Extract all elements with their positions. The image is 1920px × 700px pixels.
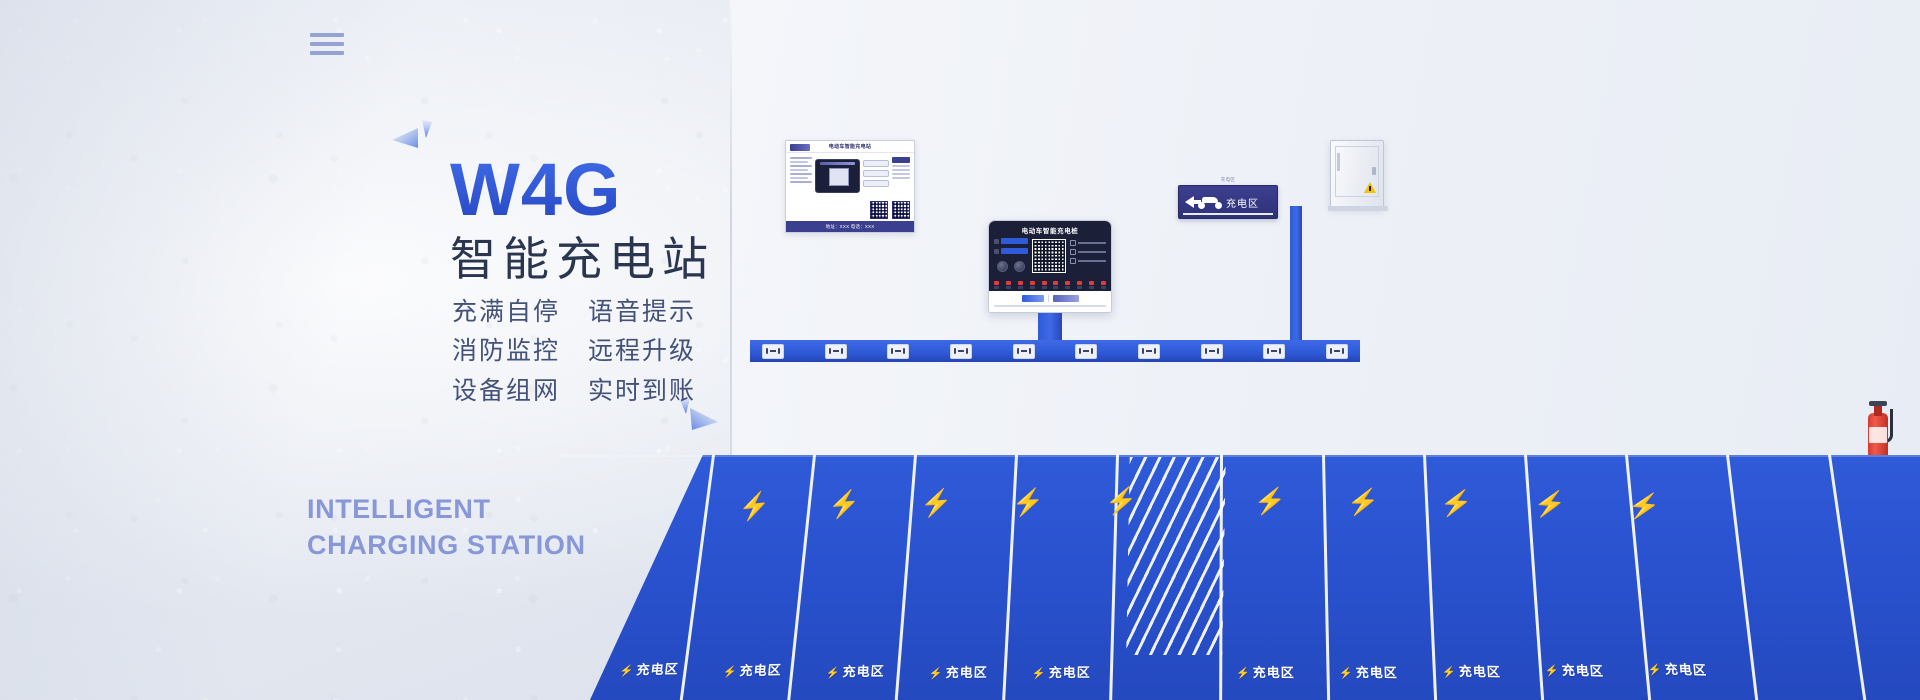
port-socket [1101,286,1106,289]
poster-qr-group [870,201,910,219]
bay-label: ⚡充电区 [1441,660,1501,680]
headline-block: W4G 智能充电站 [450,155,715,289]
plug-icon: ⚡ [919,489,953,517]
port-socket [1018,286,1023,289]
bay-label-text: 充电区 [1664,662,1708,678]
socket-rail [750,340,1360,362]
menu-bar-2 [310,42,344,46]
port-led [1042,281,1047,285]
bay-label-text: 充电区 [1253,665,1295,680]
charging-port[interactable] [1006,281,1011,289]
plug-icon: ⚡ [1533,490,1567,518]
charging-port[interactable] [1018,281,1023,289]
info-icon [1070,249,1076,255]
socket-slot [1334,350,1340,352]
bay-label-text: 充电区 [1561,663,1604,679]
hatched-aisle [1126,457,1225,655]
socket-pin [891,348,893,354]
info-text [1078,251,1106,253]
bolt-icon: ⚡ [825,667,840,679]
bay-line [680,455,715,700]
poster-text-line [790,173,812,175]
charging-pile-info-column [1070,238,1106,273]
power-socket-icon[interactable] [1013,344,1035,359]
power-socket-icon[interactable] [1075,344,1097,359]
scooter-icon [1198,195,1222,209]
charging-port[interactable] [1030,281,1035,289]
charging-pile-footer [989,291,1111,312]
port-socket [994,286,999,289]
poster-notice-line [892,165,910,167]
charging-port[interactable] [1065,281,1070,289]
charging-pile[interactable]: 电动车智能充电桩 [988,220,1112,359]
bay-label: ⚡充电区 [929,662,989,682]
bay-label: ⚡充电区 [722,659,782,679]
direction-sign-underline [1183,213,1273,215]
direction-sign-text: 充电区 [1226,195,1259,210]
port-socket [1089,286,1094,289]
poster-logo [790,144,810,151]
socket-pin [829,348,831,354]
socket-pin [1142,348,1144,354]
plug-icon: ⚡ [1627,491,1662,520]
parking-floor: ⚡ ⚡ ⚡ ⚡ ⚡ ⚡ ⚡ ⚡ ⚡ ⚡ ⚡充电区 ⚡充电区 ⚡充电区 ⚡充电区 … [560,455,1920,700]
scooter-wheel-front [1198,202,1205,209]
electrical-cabinet[interactable] [1330,140,1384,208]
bolt-icon: ⚡ [1442,666,1457,678]
port-led [1065,281,1070,285]
feature-item: 充满自停 [452,296,560,329]
socket-pin [966,348,968,354]
plug-icon: ⚡ [1439,489,1473,517]
partner-logo-icon [1053,295,1079,302]
plug-icon: ⚡ [737,491,772,520]
feature-item: 实时到账 [588,375,696,408]
charging-port[interactable] [1077,281,1082,289]
power-socket-icon[interactable] [950,344,972,359]
charging-port[interactable] [1053,281,1058,289]
charging-port[interactable] [1042,281,1047,289]
extinguisher-neck [1874,405,1882,416]
poster-text-line [790,165,812,167]
socket-pin [1154,348,1156,354]
socket-pin [1205,348,1207,354]
direction-sign[interactable]: 充电区 充电区 [1178,185,1278,219]
cabinet-hinge [1337,153,1340,171]
charging-port[interactable] [1089,281,1094,289]
subtitle-line-1: INTELLIGENT [307,492,586,528]
poster-step [863,160,889,167]
bolt-icon: ⚡ [619,665,635,677]
poster-text-line [790,161,808,163]
bay-line [787,455,816,700]
charging-pile-display-column [994,238,1028,273]
bay-label: ⚡充电区 [1032,662,1091,681]
poster-device-image [815,159,860,193]
charging-port[interactable] [1101,281,1106,289]
scooter-wheel-rear [1215,202,1222,209]
bay-label-text: 充电区 [636,661,680,677]
charging-pile-info-row [1070,258,1106,264]
subtitle-line-2: CHARGING STATION [307,528,586,564]
plug-icon: ⚡ [1105,488,1138,515]
poster-text-line [790,169,808,171]
feature-item: 语音提示 [588,296,696,329]
left-arrow-icon [1185,196,1194,208]
socket-pin [778,348,780,354]
feature-item: 远程升级 [588,335,696,368]
menu-bar-3 [310,51,344,55]
scooter-body [1202,197,1218,203]
socket-pin [1091,348,1093,354]
cabinet-handle[interactable] [1372,167,1376,175]
socket-pin [1217,348,1219,354]
charging-port[interactable] [994,281,999,289]
poster-text-column [790,157,812,219]
port-led [994,281,999,285]
socket-pin [954,348,956,354]
port-led [1053,281,1058,285]
charging-pile-info-row [1070,249,1106,255]
bolt-icon: ⚡ [1545,665,1561,677]
bolt-icon: ⚡ [1339,668,1354,680]
socket-pin [1330,348,1332,354]
brand-logo-icon [1022,295,1044,302]
poster-step [863,180,889,187]
charging-pile-display-row [994,248,1028,254]
charging-pile-subtext [994,305,1106,307]
info-icon [1070,258,1076,264]
socket-slot [1083,350,1089,352]
socket-slot [958,350,964,352]
socket-pin [1267,348,1269,354]
socket-pin [841,348,843,354]
bay-label: ⚡充电区 [1544,659,1604,679]
speaker-icon [997,261,1008,272]
high-voltage-warning-icon [1364,182,1376,193]
charging-pile-knobs[interactable] [994,261,1028,272]
bay-label-text: 充电区 [945,665,988,680]
power-socket-icon[interactable] [1263,344,1285,359]
poster-notice-line [892,177,910,179]
bay-line [1322,455,1330,700]
bay-label-text: 充电区 [1049,665,1091,680]
bolt-icon: ⚡ [722,666,738,678]
poster-notice-line [892,169,910,171]
socket-slot [833,350,839,352]
bay-label-text: 充电区 [1458,664,1501,680]
poster-text-line [790,157,812,159]
charging-pile-info-row [1070,240,1106,246]
power-socket-icon[interactable] [1138,344,1160,359]
charging-pile-body: 电动车智能充电桩 [988,220,1112,313]
plug-icon: ⚡ [1347,488,1380,515]
plug-icon: ⚡ [1012,488,1045,515]
extinguisher-handle [1869,401,1887,406]
power-socket-icon[interactable] [825,344,847,359]
port-socket [1065,286,1070,289]
bay-label: ⚡充电区 [825,661,885,681]
hamburger-menu-icon[interactable] [310,33,344,55]
socket-pin [766,348,768,354]
feature-item: 设备组网 [452,375,560,408]
socket-slot [1271,350,1277,352]
direction-sign-top-label: 充电区 [1221,177,1235,183]
bay-label: ⚡充电区 [1236,662,1295,681]
socket-pin [1017,348,1019,354]
bay-label: ⚡充电区 [619,658,680,679]
menu-bar-1 [310,33,344,37]
display-dot [994,239,999,244]
poster-device-title [820,162,855,165]
bay-label-text: 充电区 [842,664,885,680]
bay-line [1726,455,1758,700]
qr-code-icon [892,201,910,219]
port-socket [1030,286,1035,289]
feature-list: 充满自停 语音提示 消防监控 远程升级 设备组网 实时到账 [452,296,696,408]
bay-label: ⚡充电区 [1339,662,1398,682]
info-icon [1070,240,1076,246]
cabinet-base [1328,206,1388,211]
port-socket [1077,286,1082,289]
socket-slot [1209,350,1215,352]
bay-label-text: 充电区 [1355,665,1398,681]
port-led [1077,281,1082,285]
info-text [1078,260,1106,262]
port-led [1089,281,1094,285]
poster-body [786,153,914,223]
socket-slot [1146,350,1152,352]
poster-footer: 地址：XXX 电话：XXX [786,221,914,232]
display-readout [1001,238,1028,244]
port-led [1030,281,1035,285]
info-text [1078,242,1106,244]
plug-icon: ⚡ [1254,488,1287,515]
power-socket-icon[interactable] [762,344,784,359]
socket-slot [1021,350,1027,352]
wall-poster: 电动车智能充电站 [785,140,915,233]
socket-pin [1279,348,1281,354]
socket-slot [770,350,776,352]
bay-line [895,455,917,700]
charging-pile-controls [994,238,1106,273]
poster-step [863,170,889,177]
socket-pin [1029,348,1031,354]
port-led [1101,281,1106,285]
bolt-icon: ⚡ [1236,668,1251,680]
port-socket [1053,286,1058,289]
power-socket-icon[interactable] [1326,344,1348,359]
power-socket-icon[interactable] [887,344,909,359]
extinguisher-label [1869,427,1887,443]
cable-conduit [1290,206,1302,354]
poster-text-line [790,181,812,183]
charging-pile-panel: 电动车智能充电桩 [989,221,1111,278]
port-socket [1006,286,1011,289]
poster-text-line [790,177,808,179]
subtitle-en: INTELLIGENT CHARGING STATION [307,492,586,564]
dial-knob-icon[interactable] [1014,261,1025,272]
port-led [1006,281,1011,285]
socket-pin [1079,348,1081,354]
qr-code-icon [870,201,888,219]
charging-pile-brand-row [994,295,1106,302]
bay-line [1828,455,1866,700]
promo-banner: W4G 智能充电站 充满自停 语音提示 消防监控 远程升级 设备组网 实时到账 … [0,0,1920,700]
bolt-icon: ⚡ [1648,664,1664,676]
display-dot [994,249,999,254]
socket-pin [903,348,905,354]
port-led [1018,281,1023,285]
port-socket [1042,286,1047,289]
qr-code-icon[interactable] [1032,239,1066,273]
bay-line [1423,455,1437,700]
power-socket-icon[interactable] [1201,344,1223,359]
charging-pile-display-row [994,238,1028,244]
charging-pile-port-row[interactable] [989,278,1111,291]
bolt-icon: ⚡ [1032,668,1047,680]
feature-item: 消防监控 [452,335,560,368]
poster-notice-line [892,173,910,175]
display-readout [1001,248,1028,254]
plug-icon: ⚡ [827,490,861,518]
divider [1048,295,1049,302]
bay-label: ⚡充电区 [1647,658,1708,679]
title-cn: 智能充电站 [450,231,715,289]
socket-pin [1342,348,1344,354]
charging-pile-title: 电动车智能充电桩 [994,225,1106,235]
title-en: W4G [450,155,715,225]
socket-slot [895,350,901,352]
bolt-icon: ⚡ [929,668,944,680]
poster-notice-header [892,157,910,163]
bay-label-text: 充电区 [739,662,782,678]
decorative-arrow-top [392,120,434,162]
